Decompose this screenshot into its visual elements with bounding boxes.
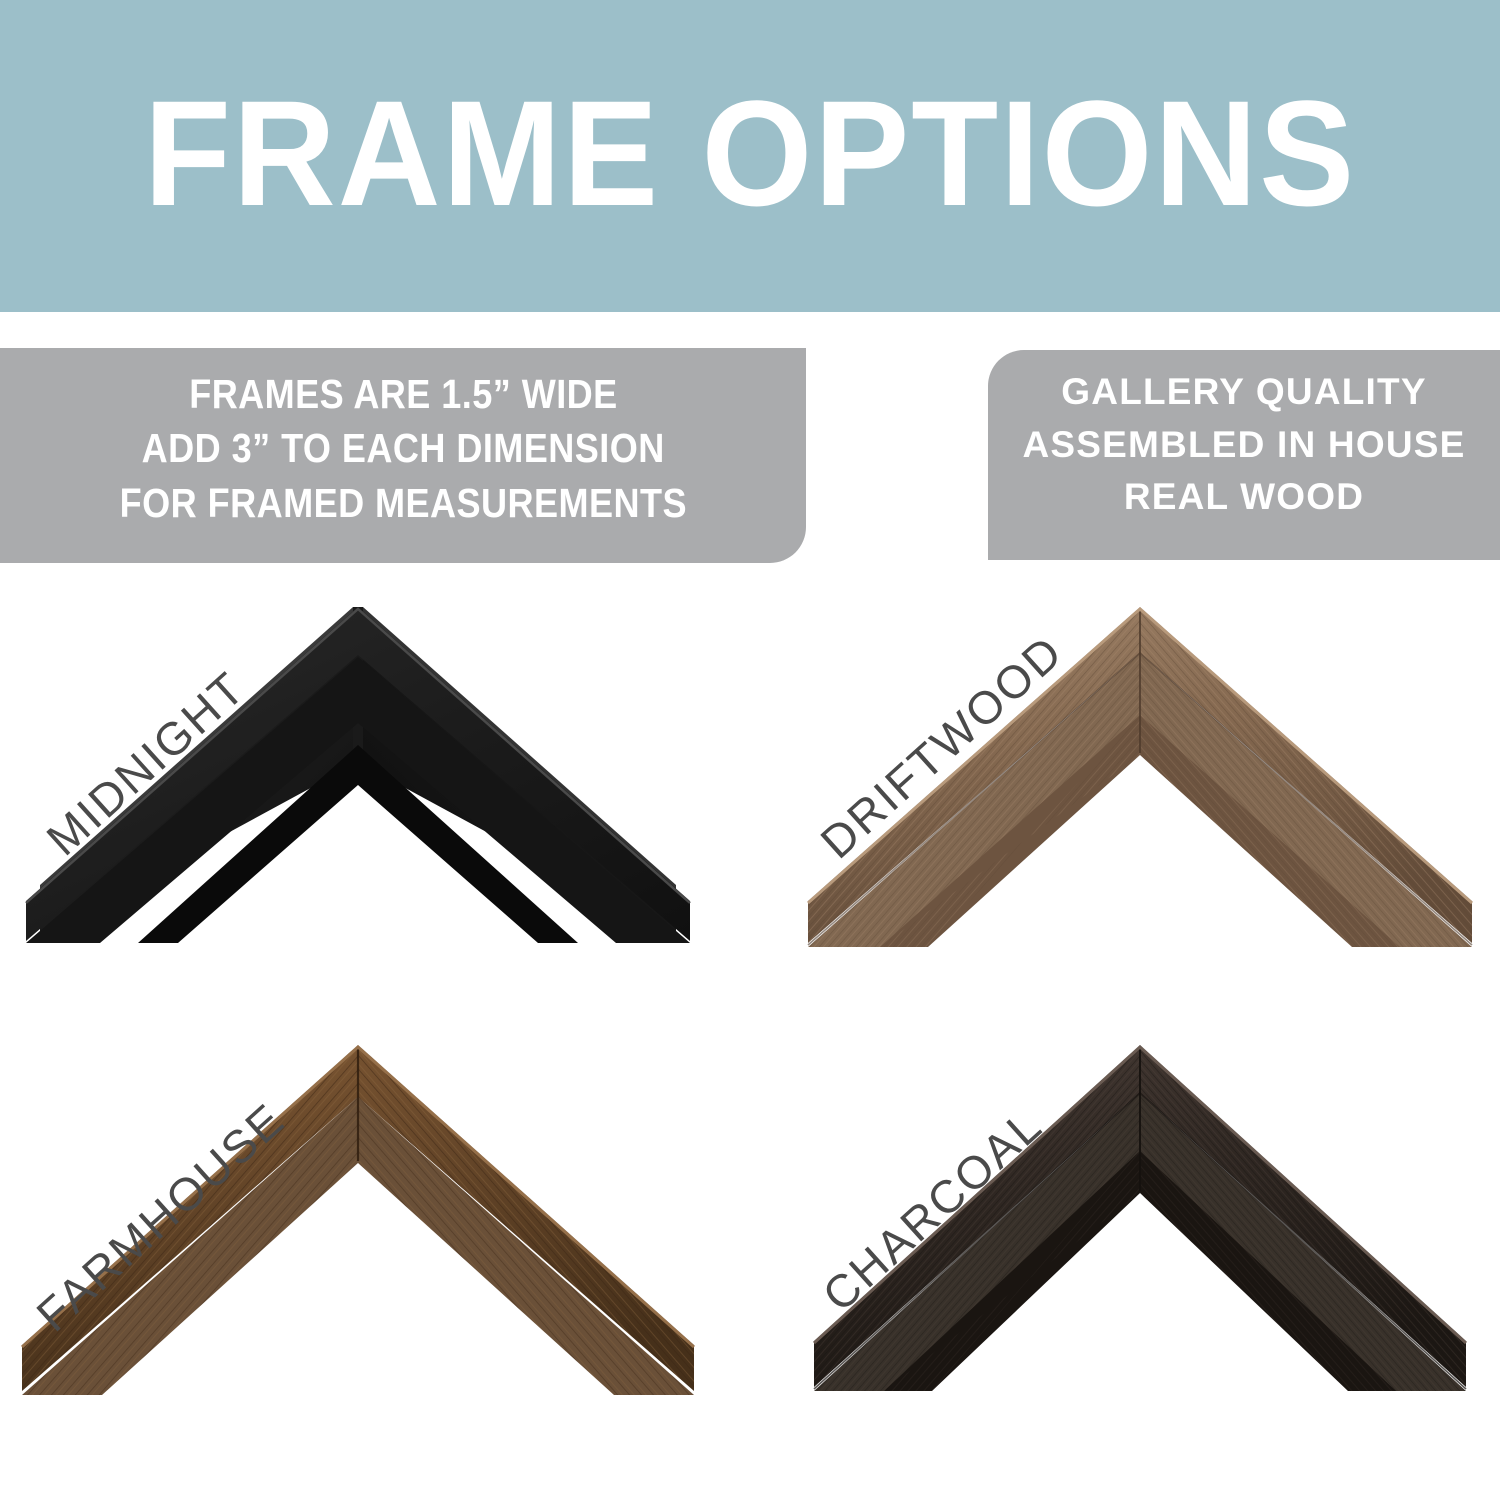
quality-info-line-1: GALLERY QUALITY [1061,366,1426,419]
frame-grain-left-lower [22,1097,358,1395]
sizing-info-line-3: FOR FRAMED MEASUREMENTS [119,476,686,531]
sizing-info-line-2: ADD 3” TO EACH DIMENSION [141,421,664,476]
quality-info-box: GALLERY QUALITY ASSEMBLED IN HOUSE REAL … [988,350,1500,560]
page-title: FRAME OPTIONS [144,78,1356,234]
header-banner: FRAME OPTIONS [0,0,1500,312]
sizing-info-box: FRAMES ARE 1.5” WIDE ADD 3” TO EACH DIME… [0,348,806,563]
frame-grain-right-lower [358,1097,694,1395]
frame-options-infographic: FRAME OPTIONS FRAMES ARE 1.5” WIDE ADD 3… [0,0,1500,1500]
quality-info-line-3: REAL WOOD [1124,471,1364,524]
sizing-info-line-1: FRAMES ARE 1.5” WIDE [189,367,617,422]
frame-grain-right [358,1045,694,1391]
quality-info-line-2: ASSEMBLED IN HOUSE [1022,419,1465,472]
